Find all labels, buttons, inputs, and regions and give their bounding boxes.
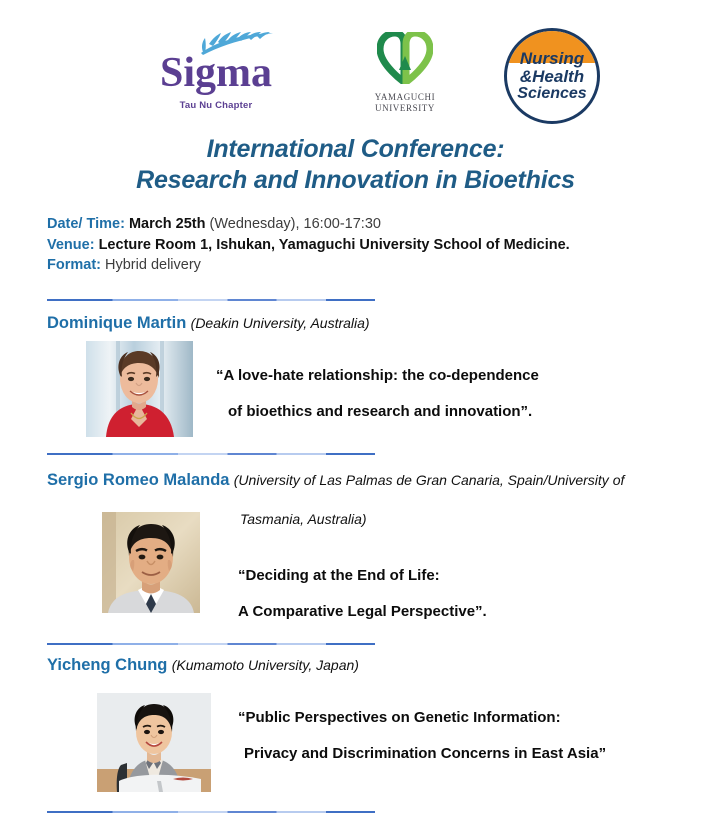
speaker-heading: Dominique Martin (Deakin University, Aus… xyxy=(47,313,692,334)
venue-label: Venue: xyxy=(47,237,95,253)
speaker-heading: Sergio Romeo Malanda (University of Las … xyxy=(47,470,692,491)
speaker-photo xyxy=(97,693,211,792)
talk-title: “Public Perspectives on Genetic Informat… xyxy=(238,700,688,772)
heart-leaf-icon xyxy=(377,32,433,84)
portrait-yicheng-chung xyxy=(97,693,211,792)
talk-title: “Deciding at the End of Life: A Comparat… xyxy=(238,558,678,630)
sigma-logo: Sigma Tau Nu Chapter xyxy=(157,34,275,111)
yamaguchi-university-logo: YAMAGUCHI UNIVERSITY xyxy=(363,32,447,114)
sigma-chapter-label: Tau Nu Chapter xyxy=(157,100,275,111)
yamaguchi-line2: UNIVERSITY xyxy=(363,103,447,114)
portrait-dominique-martin xyxy=(86,341,193,437)
format-value: Hybrid delivery xyxy=(105,257,201,273)
speaker-affiliation-continued: Tasmania, Australia) xyxy=(240,511,367,527)
talk-title-line1: “Public Perspectives on Genetic Informat… xyxy=(238,709,561,726)
conference-title: International Conference: Research and I… xyxy=(0,134,711,196)
conference-title-line1: International Conference: xyxy=(0,134,711,165)
logo-row: Sigma Tau Nu Chapter YAMAGUCHI UNIVERSIT… xyxy=(0,26,711,134)
speaker-photo xyxy=(102,512,200,613)
talk-title-line2: A Comparative Legal Perspective”. xyxy=(238,594,678,630)
speaker-name: Sergio Romeo Malanda xyxy=(47,471,229,489)
venue-value: Lecture Room 1, Ishukan, Yamaguchi Unive… xyxy=(99,237,570,253)
speaker-photo xyxy=(86,341,193,437)
nhs-line1: Nursing xyxy=(520,50,584,67)
talk-title-line2: Privacy and Discrimination Concerns in E… xyxy=(244,736,688,772)
speaker-affiliation: (Deakin University, Australia) xyxy=(191,315,370,331)
speaker-name: Yicheng Chung xyxy=(47,656,167,674)
detail-venue: Venue: Lecture Room 1, Ishukan, Yamaguch… xyxy=(47,235,687,256)
section-divider xyxy=(47,811,375,813)
nhs-line2: &Health xyxy=(520,68,584,85)
section-divider xyxy=(47,299,375,301)
yamaguchi-logo-text: YAMAGUCHI UNIVERSITY xyxy=(363,92,447,114)
talk-title-line2: of bioethics and research and innovation… xyxy=(228,394,676,430)
speaker-heading: Yicheng Chung (Kumamoto University, Japa… xyxy=(47,655,692,676)
section-divider xyxy=(47,643,375,645)
speaker-name: Dominique Martin xyxy=(47,314,186,332)
speaker-affiliation: (Kumamoto University, Japan) xyxy=(172,657,359,673)
event-details: Date/ Time: March 25th (Wednesday), 16:0… xyxy=(47,214,687,276)
speaker-affiliation: (University of Las Palmas de Gran Canari… xyxy=(234,472,625,488)
format-label: Format: xyxy=(47,257,101,273)
yamaguchi-line1: YAMAGUCHI xyxy=(363,92,447,103)
detail-date-time: Date/ Time: March 25th (Wednesday), 16:0… xyxy=(47,214,687,235)
talk-title-line1: “A love-hate relationship: the co-depend… xyxy=(216,367,539,384)
section-divider xyxy=(47,453,375,455)
date-time-label: Date/ Time: xyxy=(47,216,125,232)
portrait-sergio-romeo-malanda xyxy=(102,512,200,613)
sigma-wordmark: Sigma xyxy=(157,50,275,96)
nhs-line3: Sciences xyxy=(517,86,586,102)
detail-format: Format: Hybrid delivery xyxy=(47,255,687,276)
conference-title-line2: Research and Innovation in Bioethics xyxy=(0,165,711,196)
nhs-logo-text: Nursing &Health Sciences xyxy=(507,31,597,121)
date-time-value-plain: (Wednesday), 16:00-17:30 xyxy=(210,216,381,232)
talk-title: “A love-hate relationship: the co-depend… xyxy=(216,358,676,430)
nursing-health-sciences-logo: Nursing &Health Sciences xyxy=(504,28,600,124)
date-time-value-strong: March 25th xyxy=(129,216,206,232)
talk-title-line1: “Deciding at the End of Life: xyxy=(238,567,440,584)
